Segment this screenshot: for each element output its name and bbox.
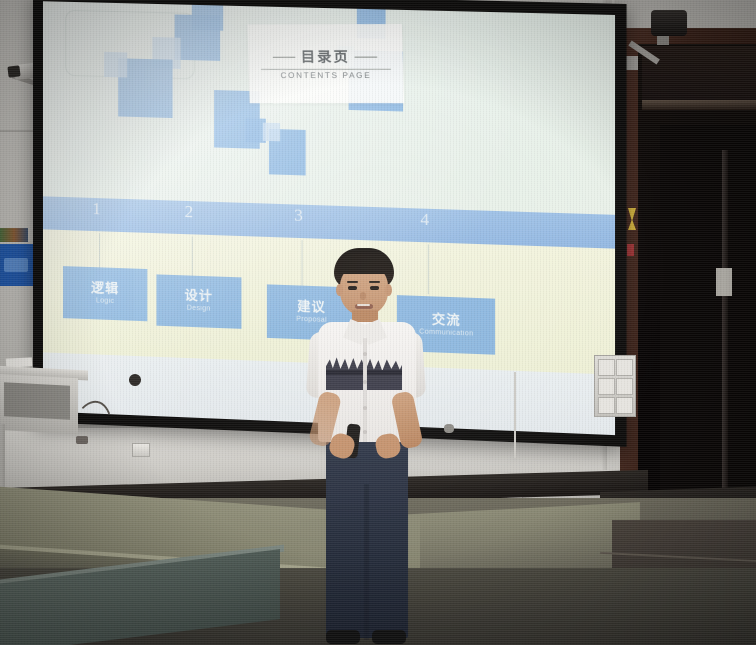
presenter-teeth [357, 304, 370, 306]
presenter[interactable] [300, 248, 430, 645]
deco-square-pale [263, 122, 280, 141]
poster-graphic [4, 258, 28, 272]
lectern-desk-cavity [4, 382, 70, 419]
slide-number-1: 1 [92, 198, 101, 218]
deco-square-pale [105, 52, 127, 77]
door-transom-glass [642, 46, 756, 100]
classroom-photo-scene: 目录页 CONTENTS PAGE 1 2 3 4 逻辑 Logic [0, 0, 756, 645]
wall-fixture-icon [444, 424, 454, 433]
presenter-ear-left [336, 284, 343, 296]
presenter-ear-right [385, 284, 392, 296]
presenter-eye-left [348, 286, 357, 290]
door-pole [722, 150, 728, 530]
connector-tick [191, 236, 192, 277]
presenter-brow-left [347, 281, 358, 283]
switch-icon[interactable] [598, 359, 615, 376]
presenter-hair-fringe [336, 254, 392, 274]
presenter-shoe-right [372, 630, 406, 644]
presenter-shoe-left [326, 630, 360, 644]
title-underline [261, 69, 391, 70]
slide-number-3: 3 [294, 205, 303, 226]
red-sticker-icon [627, 244, 634, 256]
switch-icon[interactable] [616, 397, 633, 414]
door-inner-panel [660, 125, 756, 525]
switch-icon[interactable] [616, 378, 633, 395]
camera-lens-icon [7, 65, 20, 77]
slide-item-1-cn: 逻辑 [91, 282, 119, 296]
presenter-brow-right [369, 281, 380, 283]
title-rule-left [273, 57, 295, 58]
wall-switch-panel[interactable] [594, 355, 636, 417]
wall-speaker-icon [129, 374, 141, 386]
slide-title-card: 目录页 CONTENTS PAGE [248, 24, 405, 103]
slide-item-1-en: Logic [96, 297, 114, 305]
deco-square [175, 15, 220, 62]
presenter-shirt-button [363, 352, 367, 356]
connector-tick [99, 233, 100, 270]
slide-item-2-cn: 设计 [185, 290, 213, 304]
slide-item-4-cn: 交流 [432, 313, 461, 327]
presenter-nose [360, 292, 366, 300]
door-rail [642, 100, 756, 110]
presenter-shirt-button [363, 430, 367, 434]
presenter-shirt-button [363, 380, 367, 384]
switch-icon[interactable] [598, 397, 615, 414]
switch-icon[interactable] [598, 378, 615, 395]
wall-photo-strip [0, 228, 28, 242]
slide-item-2[interactable]: 设计 Design [156, 274, 241, 329]
pole-tag [716, 268, 732, 296]
title-rule-right [355, 57, 378, 58]
power-outlet[interactable] [132, 443, 150, 457]
slide-number-4: 4 [420, 209, 429, 230]
slide-item-1[interactable]: 逻辑 Logic [63, 266, 147, 320]
slide-title-row: 目录页 [273, 47, 378, 67]
slide-title-cn: 目录页 [301, 47, 351, 67]
presenter-shirt-button [363, 406, 367, 410]
presenter-eye-right [370, 286, 379, 290]
presenter-jeans-seam [364, 484, 369, 640]
hanging-cable [514, 372, 516, 458]
security-camera-right-icon [651, 10, 687, 36]
slide-title-en: CONTENTS PAGE [281, 72, 372, 81]
switch-icon[interactable] [616, 359, 633, 376]
slide-item-2-en: Design [187, 305, 211, 313]
slide-number-2: 2 [185, 201, 194, 221]
